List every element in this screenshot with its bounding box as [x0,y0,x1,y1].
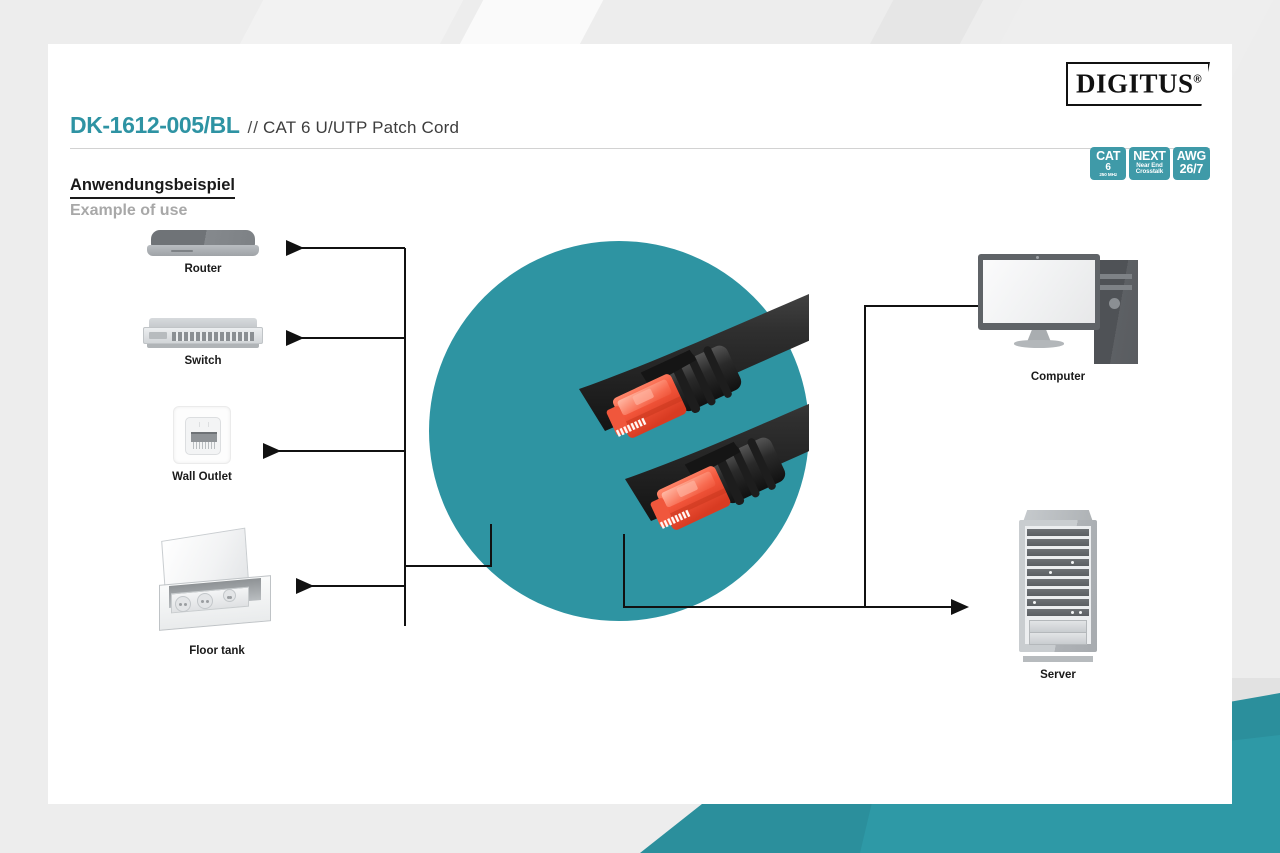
floor-tank-icon [157,534,277,638]
node-wall-outlet: Wall Outlet [146,406,258,483]
node-switch: Switch [133,318,273,367]
node-router: Router [138,230,268,275]
datasheet-page: DIGITUS® DK-1612-005/BL//CAT 6 U/UTP Pat… [0,0,1280,853]
router-icon [147,230,259,256]
floor-tank-label: Floor tank [152,645,282,657]
content-card: DIGITUS® DK-1612-005/BL//CAT 6 U/UTP Pat… [48,44,1232,804]
computer-label: Computer [968,371,1148,383]
switch-label: Switch [133,355,273,367]
wall-outlet-label: Wall Outlet [146,471,258,483]
application-diagram: Router Switch [48,44,1232,804]
server-icon [1019,510,1097,662]
server-label: Server [968,669,1148,681]
node-computer: Computer [968,254,1148,383]
node-server: Server [968,510,1148,681]
router-label: Router [138,263,268,275]
computer-icon [978,254,1138,364]
cat6-utp-patch-cord [429,241,809,621]
node-floor-tank: Floor tank [152,534,282,657]
switch-icon [143,318,263,348]
wall-outlet-icon [173,406,231,464]
